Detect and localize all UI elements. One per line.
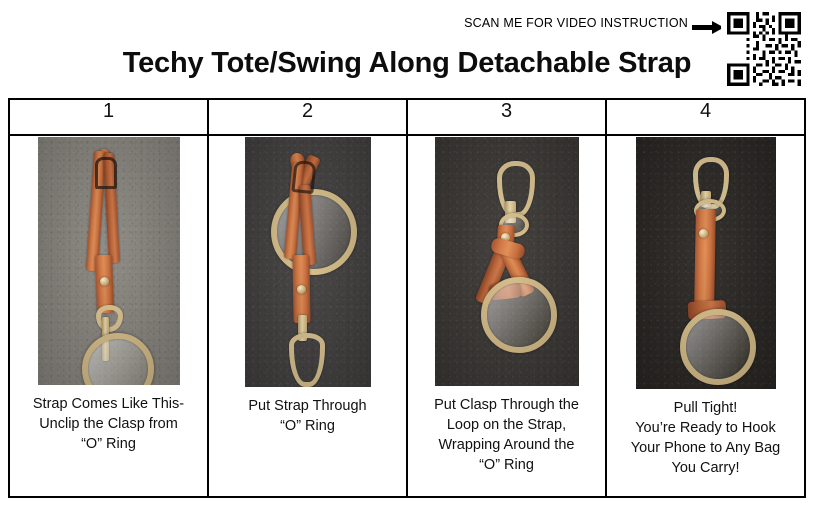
step-caption-4: Pull Tight! You’re Ready to Hook Your Ph… <box>625 398 786 478</box>
step-cell-4: Pull Tight! You’re Ready to Hook Your Ph… <box>606 135 805 497</box>
step-number-2: 2 <box>208 99 407 135</box>
right-arrow-icon <box>692 21 724 34</box>
step-number-3: 3 <box>407 99 606 135</box>
strap-photo-step-4 <box>636 137 776 389</box>
page-title: Techy Tote/Swing Along Detachable Strap <box>0 47 814 80</box>
table-content-row: Strap Comes Like This- Unclip the Clasp … <box>9 135 805 497</box>
step-caption-3: Put Clasp Through the Loop on the Strap,… <box>428 395 585 475</box>
step-number-1: 1 <box>9 99 208 135</box>
step-cell-2: Put Strap Through “O” Ring <box>208 135 407 497</box>
strap-photo-step-3 <box>435 137 579 386</box>
step-cell-3: Put Clasp Through the Loop on the Strap,… <box>407 135 606 497</box>
strap-photo-step-1 <box>38 137 180 385</box>
table-header-row: 1 2 3 4 <box>9 99 805 135</box>
step-cell-1: Strap Comes Like This- Unclip the Clasp … <box>9 135 208 497</box>
step-caption-1: Strap Comes Like This- Unclip the Clasp … <box>27 394 190 454</box>
step-number-4: 4 <box>606 99 805 135</box>
steps-table: 1 2 3 4 <box>8 98 806 498</box>
strap-photo-step-2 <box>245 137 371 387</box>
scan-instruction-text: SCAN ME FOR VIDEO INSTRUCTION <box>464 16 688 30</box>
step-caption-2: Put Strap Through “O” Ring <box>242 396 372 436</box>
